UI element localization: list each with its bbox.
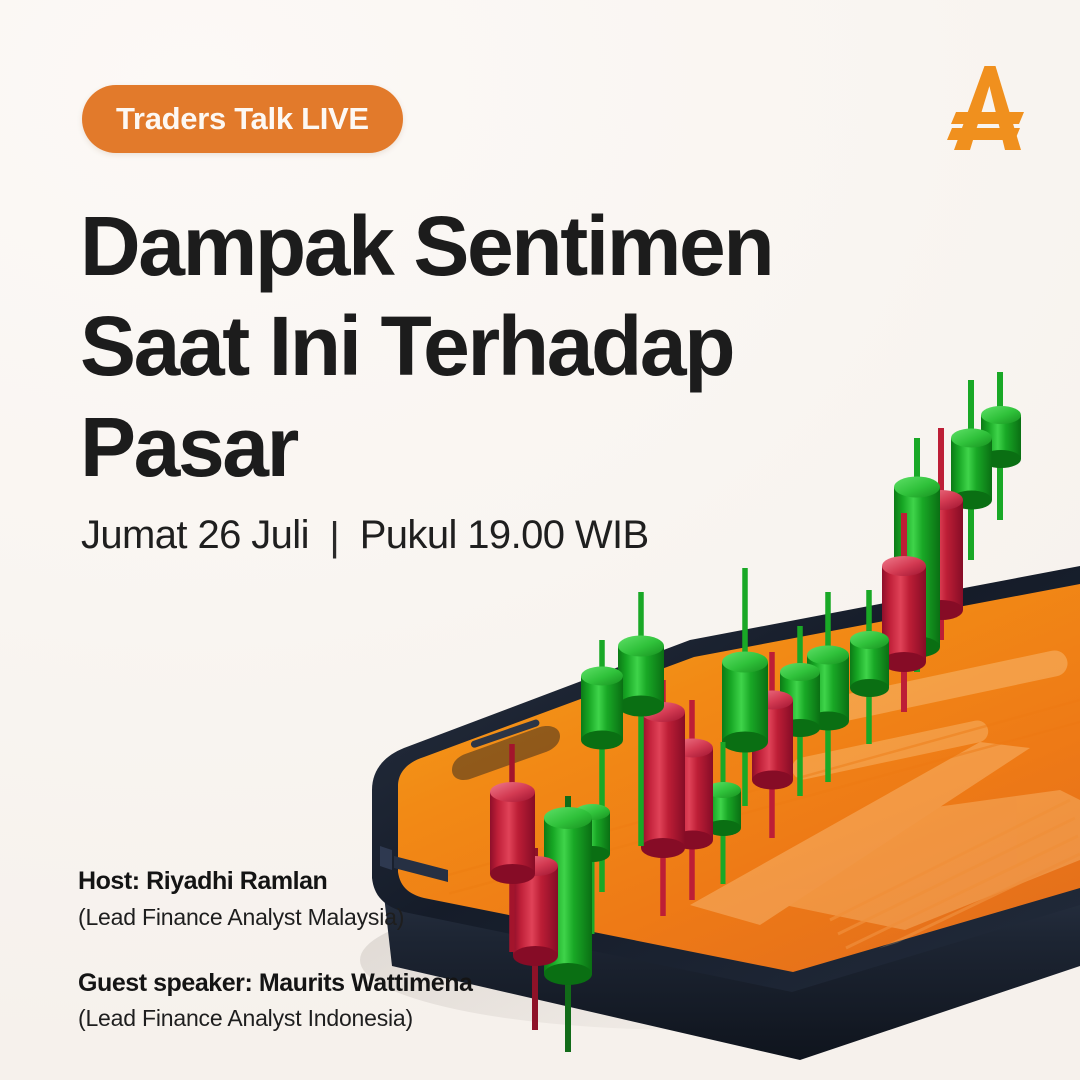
speaker-guest-role: (Lead Finance Analyst Indonesia) [78, 1003, 598, 1033]
live-badge: Traders Talk LIVE [82, 85, 403, 153]
page-title: Dampak Sentimen Saat Ini Terhadap Pasar [80, 196, 800, 497]
schedule-date: Jumat 26 Juli [81, 513, 309, 557]
headline-line-1: Dampak Sentimen [80, 196, 800, 296]
schedule-time: Pukul 19.00 WIB [360, 513, 649, 557]
headline-line-3: Pasar [80, 397, 800, 497]
speaker-guest: Guest speaker: Maurits Wattimena (Lead F… [78, 968, 598, 1034]
schedule-separator: | [329, 515, 339, 560]
speaker-host-name: Host: Riyadhi Ramlan [78, 866, 598, 897]
schedule-line: Jumat 26 Juli | Pukul 19.00 WIB [81, 513, 649, 558]
octa-a-monogram-icon [940, 58, 1040, 158]
headline-line-2: Saat Ini Terhadap [80, 296, 800, 396]
speaker-host: Host: Riyadhi Ramlan (Lead Finance Analy… [78, 866, 598, 932]
live-badge-label: Traders Talk LIVE [116, 101, 369, 137]
speaker-host-role: (Lead Finance Analyst Malaysia) [78, 902, 598, 932]
speaker-guest-name: Guest speaker: Maurits Wattimena [78, 968, 598, 999]
speaker-list: Host: Riyadhi Ramlan (Lead Finance Analy… [78, 866, 598, 1034]
promo-poster: Traders Talk LIVE Dampak Sentimen Saat I… [0, 0, 1080, 1080]
poster-content: Traders Talk LIVE Dampak Sentimen Saat I… [0, 0, 1080, 1080]
